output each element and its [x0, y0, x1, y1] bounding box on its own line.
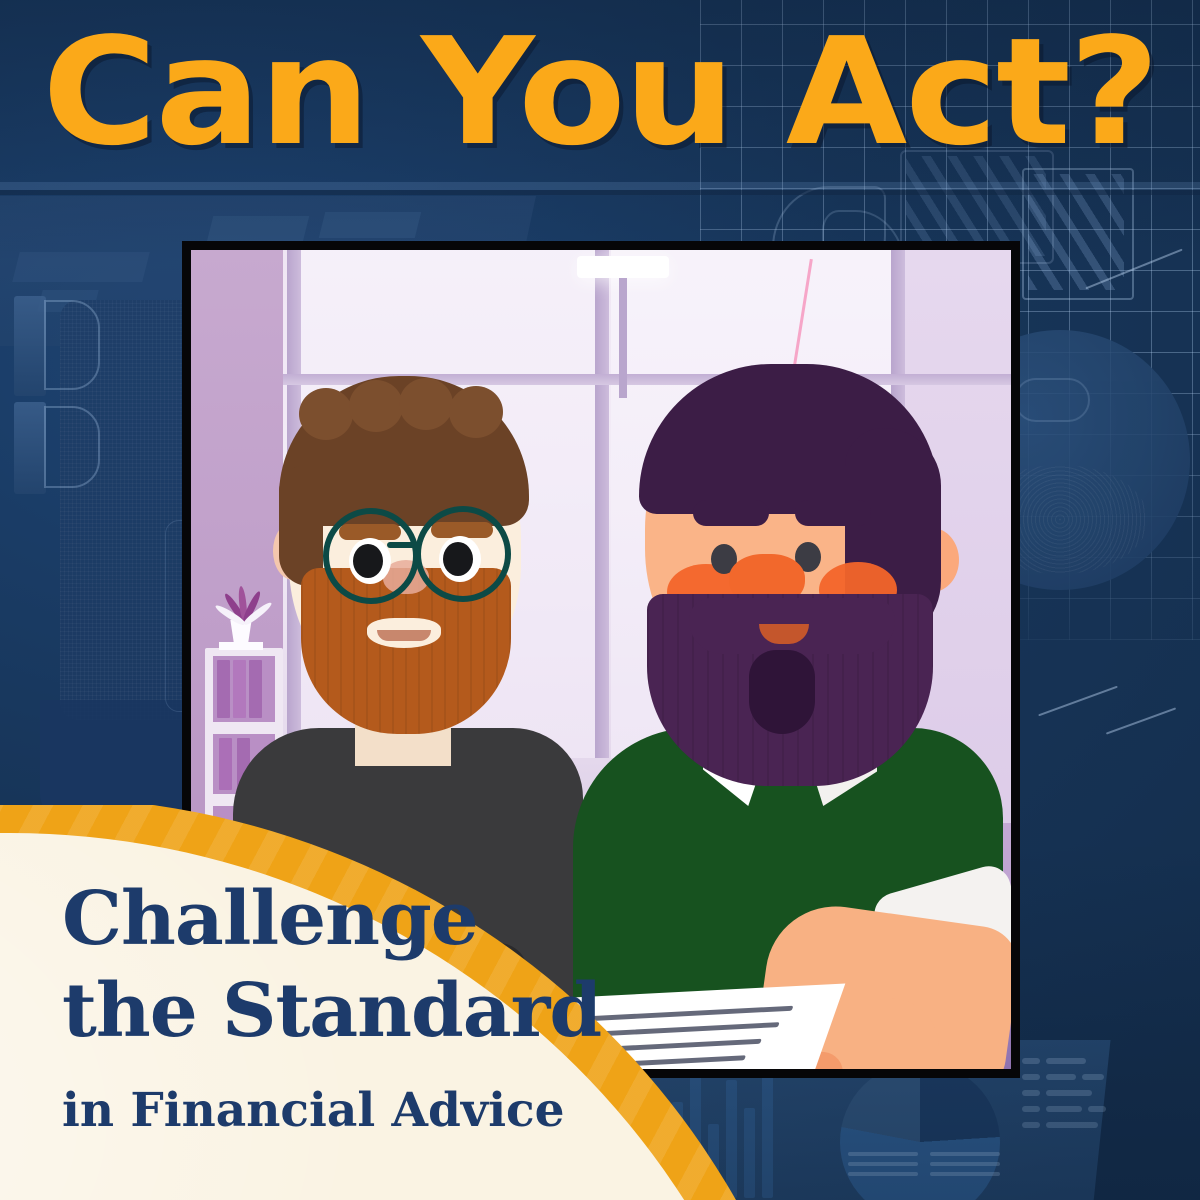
caption-line-2: the Standard	[62, 972, 715, 1050]
caption-text-block: Challenge the Standard in Financial Advi…	[62, 880, 702, 1137]
person-left-hair-wave	[349, 380, 403, 432]
person-left-lip	[377, 630, 431, 641]
caption-line-3: in Financial Advice	[62, 1085, 702, 1137]
person-right-eyebrow	[693, 500, 769, 526]
poster-canvas: Can You Act?	[0, 0, 1200, 1200]
person-right-eyebrow	[795, 500, 871, 526]
person-left-glasses-lens	[415, 506, 511, 602]
person-left-glasses-lens	[323, 508, 419, 604]
poster-headline: Can You Act?	[0, 18, 1200, 166]
ceiling-lamp	[577, 256, 669, 278]
person-left-hair-wave	[399, 378, 453, 430]
caption-line-1: Challenge	[62, 880, 715, 958]
person-left-hair-wave	[449, 386, 503, 438]
person-left-hair-wave	[299, 388, 353, 440]
person-right-soul-patch	[749, 650, 815, 734]
